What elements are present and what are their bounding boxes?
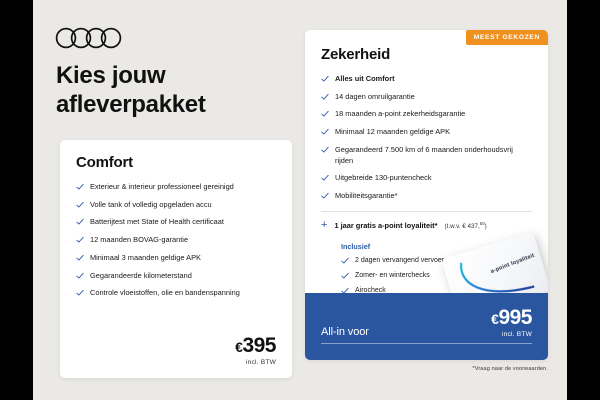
comfort-price-value: 395 (242, 334, 276, 357)
package-card-comfort[interactable]: Comfort Exterieur & interieur profession… (60, 140, 292, 378)
status-badge-meest-gekozen: MEEST GEKOZEN (466, 30, 548, 45)
list-item: Controle vloeistoffen, olie en bandenspa… (76, 288, 276, 299)
list-item: Alles uit Comfort (321, 74, 532, 85)
loyalty-value-suffix: ) (485, 223, 487, 230)
list-item: Batterijtest met State of Health certifi… (76, 217, 276, 228)
check-icon (76, 272, 84, 280)
comfort-price-amount: €395 (235, 335, 276, 356)
list-item-label: Gegarandeerde kilometerstand (90, 271, 276, 282)
list-item-label: 18 maanden a-point zekerheidsgarantie (335, 109, 532, 120)
allin-price-block: €995 incl. BTW (491, 307, 532, 338)
allin-underline (321, 343, 532, 344)
list-item-label: Zomer- en winterchecks (355, 272, 430, 279)
page-title: Kies jouw afleverpakket (56, 62, 306, 120)
check-icon (76, 289, 84, 297)
list-item-label: Exterieur & interieur professioneel gere… (90, 182, 276, 193)
check-icon (76, 254, 84, 262)
comfort-card-title: Comfort (76, 154, 276, 171)
comfort-price-note: incl. BTW (235, 359, 276, 366)
list-item-label: Alles uit Comfort (335, 74, 532, 85)
screenshot-stage: Kies jouw afleverpakket Comfort Exterieu… (0, 0, 600, 400)
list-item: Volle tank of volledig opgeladen accu (76, 200, 276, 211)
check-icon (76, 183, 84, 191)
allin-price-value: 995 (498, 306, 532, 329)
list-item-label: Volle tank of volledig opgeladen accu (90, 200, 276, 211)
allin-price-note: incl. BTW (491, 331, 532, 338)
zekerheid-card-title: Zekerheid (321, 46, 532, 63)
loyalty-addon-label: 1 jaar gratis a-point loyaliteit* (334, 221, 437, 230)
check-icon (321, 174, 329, 182)
list-item: Minimaal 12 maanden geldige APK (321, 127, 532, 138)
check-icon (341, 272, 349, 282)
check-icon (76, 201, 84, 209)
check-icon (321, 192, 329, 200)
check-icon (321, 93, 329, 101)
loyalty-addon-value: (t.w.v. € 437,50) (445, 221, 487, 230)
check-icon (76, 218, 84, 226)
list-item-label: Controle vloeistoffen, olie en bandenspa… (90, 288, 276, 299)
audi-rings-logo (55, 27, 133, 49)
list-item-label: Uitgebreide 130-puntencheck (335, 173, 532, 184)
list-item-label: 2 dagen vervangend vervoer (355, 257, 444, 264)
divider (321, 211, 532, 212)
loyalty-addon-row: + 1 jaar gratis a-point loyaliteit* (t.w… (321, 220, 532, 231)
list-item: 12 maanden BOVAG-garantie (76, 235, 276, 246)
page-title-line-2: afleverpakket (56, 91, 306, 120)
list-item: Exterieur & interieur professioneel gere… (76, 182, 276, 193)
check-icon (321, 110, 329, 118)
comfort-price-block: €395 incl. BTW (235, 335, 276, 366)
list-item: Mobiliteitsgarantie* (321, 191, 532, 202)
list-item-label: Minimaal 3 maanden geldige APK (90, 253, 276, 264)
list-item-label: Mobiliteitsgarantie* (335, 191, 532, 202)
allin-label: All-in voor (321, 326, 369, 338)
package-card-zekerheid[interactable]: MEEST GEKOZEN Zekerheid Alles uit Comfor… (305, 30, 548, 360)
check-icon (321, 75, 329, 83)
list-item: 14 dagen omruilgarantie (321, 92, 532, 103)
list-item: Minimaal 3 maanden geldige APK (76, 253, 276, 264)
check-icon (321, 146, 329, 154)
list-item: Uitgebreide 130-puntencheck (321, 173, 532, 184)
list-item-label: 12 maanden BOVAG-garantie (90, 235, 276, 246)
footnote-text: *Vraag naar de voorwaarden. (305, 366, 548, 372)
list-item: Gegarandeerde kilometerstand (76, 271, 276, 282)
page-title-line-1: Kies jouw (56, 62, 306, 91)
allin-price-amount: €995 (491, 307, 532, 328)
list-item-label: 14 dagen omruilgarantie (335, 92, 532, 103)
list-item: Gegarandeerd 7.500 km of 6 maanden onder… (321, 145, 532, 166)
check-icon (76, 236, 84, 244)
plus-icon: + (321, 220, 327, 231)
allin-price-row: All-in voor €995 incl. BTW (321, 307, 532, 338)
list-item-label: Batterijtest met State of Health certifi… (90, 217, 276, 228)
comfort-feature-list: Exterieur & interieur professioneel gere… (76, 182, 276, 299)
loyalty-value-prefix: (t.w.v. € 437, (445, 223, 480, 230)
check-icon (321, 128, 329, 136)
zekerheid-feature-list: Alles uit Comfort14 dagen omruilgarantie… (321, 74, 532, 202)
allin-price-bar: All-in voor €995 incl. BTW (305, 293, 548, 360)
list-item-label: Gegarandeerd 7.500 km of 6 maanden onder… (335, 145, 532, 166)
list-item: 18 maanden a-point zekerheidsgarantie (321, 109, 532, 120)
list-item-label: Minimaal 12 maanden geldige APK (335, 127, 532, 138)
check-icon (341, 257, 349, 267)
promo-canvas: Kies jouw afleverpakket Comfort Exterieu… (33, 0, 567, 400)
zekerheid-card-body: MEEST GEKOZEN Zekerheid Alles uit Comfor… (305, 30, 548, 312)
